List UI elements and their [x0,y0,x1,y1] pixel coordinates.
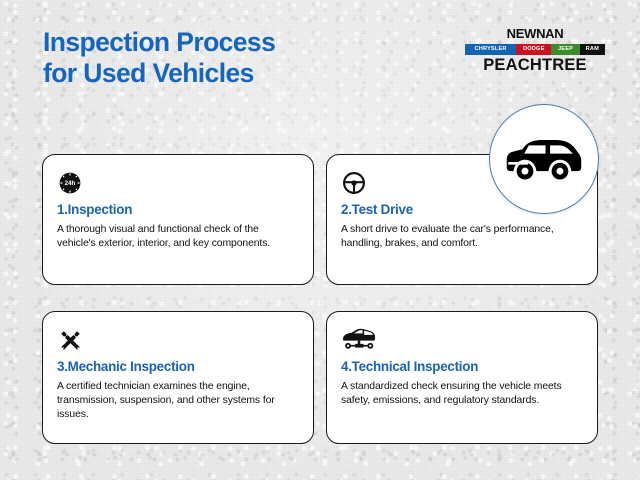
brand-badge-dodge: DODGE [516,44,551,55]
suv-icon [506,134,582,184]
steering-wheel-icon [341,170,367,196]
clock-24h-icon: 24h [57,170,83,196]
dealership-logo: NEWNAN CHRYSLER DODGE JEEP RAM PEACHTREE [465,23,605,74]
card-3-title: 3.Mechanic Inspection [57,359,299,375]
brand-badge-ram: RAM [580,44,605,55]
logo-brand-badges: CHRYSLER DODGE JEEP RAM [465,44,605,55]
card-1-title: 1.Inspection [57,202,299,218]
process-card-4[interactable]: 4.Technical Inspection A standardized ch… [326,311,598,444]
crossed-wrenches-icon [57,327,84,354]
car-on-lift-icon [341,327,377,353]
page-title: Inspection Process for Used Vehicles [43,27,373,89]
card-4-icon-wrap [341,325,583,355]
card-4-body: A standardized check ensuring the vehicl… [341,380,583,408]
infographic-canvas: Inspection Process for Used Vehicles NEW… [0,0,640,480]
brand-badge-jeep: JEEP [551,44,579,55]
process-card-3[interactable]: 3.Mechanic Inspection A certified techni… [42,311,314,444]
card-1-icon-wrap: 24h [57,168,299,198]
vehicle-badge [489,104,599,214]
svg-text:24h: 24h [65,180,76,187]
card-4-title: 4.Technical Inspection [341,359,583,375]
card-2-body: A short drive to evaluate the car's perf… [341,223,583,251]
card-1-body: A thorough visual and functional check o… [57,223,299,251]
logo-location-name: PEACHTREE [465,56,605,74]
logo-brand-name: NEWNAN [465,23,605,43]
brand-badge-chrysler: CHRYSLER [465,44,516,55]
card-3-body: A certified technician examines the engi… [57,380,299,423]
process-card-1[interactable]: 24h 1.Inspection A thorough visual and f… [42,154,314,285]
card-3-icon-wrap [57,325,299,355]
